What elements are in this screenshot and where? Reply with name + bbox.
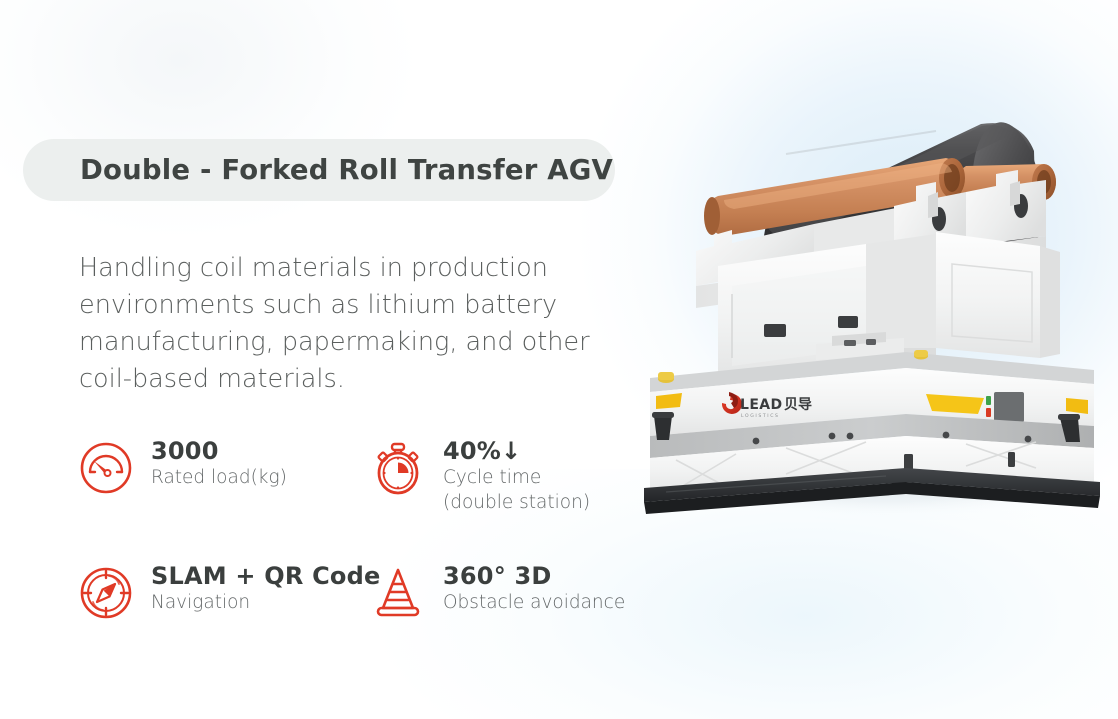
feature-row-2: SLAM + QR Code Navigation 360° 3D Obstac… — [79, 562, 679, 620]
feature-text: 360° 3D Obstacle avoidance — [443, 562, 625, 615]
product-description: Handling coil materials in production en… — [79, 250, 649, 398]
feature-rated-load: 3000 Rated load(kg) — [79, 437, 371, 495]
product-title-pill: Double - Forked Roll Transfer AGV — [23, 139, 615, 201]
feature-text: 3000 Rated load(kg) — [151, 437, 287, 490]
feature-navigation: SLAM + QR Code Navigation — [79, 562, 371, 620]
feature-label: Obstacle avoidance — [443, 590, 625, 615]
feature-grid: 3000 Rated load(kg) — [79, 437, 679, 620]
feature-text: 40%↓ Cycle time (double station) — [443, 437, 590, 515]
agv-illustration: LEAD 贝导 LOGISTICS — [636, 96, 1106, 516]
feature-text: SLAM + QR Code Navigation — [151, 562, 380, 615]
stopwatch-icon — [371, 441, 425, 495]
compass-icon — [79, 566, 133, 620]
gauge-icon — [79, 441, 133, 495]
feature-cycle-time: 40%↓ Cycle time (double station) — [371, 437, 671, 515]
feature-obstacle-avoidance: 360° 3D Obstacle avoidance — [371, 562, 671, 620]
feature-value: SLAM + QR Code — [151, 562, 380, 590]
feature-label: Cycle time — [443, 465, 590, 490]
traffic-cone-icon — [371, 566, 425, 620]
feature-label: Rated load(kg) — [151, 465, 287, 490]
background-wash-top-left — [0, 0, 460, 270]
product-banner: LEAD 贝导 LOGISTICS — [0, 0, 1118, 719]
svg-text:贝导: 贝导 — [784, 397, 812, 413]
feature-row-1: 3000 Rated load(kg) — [79, 437, 679, 562]
feature-value: 3000 — [151, 437, 287, 465]
svg-text:LEAD: LEAD — [740, 397, 783, 413]
feature-value: 40%↓ — [443, 437, 590, 465]
svg-text:LOGISTICS: LOGISTICS — [741, 413, 780, 419]
feature-value: 360° 3D — [443, 562, 625, 590]
feature-label: Navigation — [151, 590, 380, 615]
page-title: Double - Forked Roll Transfer AGV — [80, 154, 613, 186]
feature-label-secondary: (double station) — [443, 490, 590, 515]
